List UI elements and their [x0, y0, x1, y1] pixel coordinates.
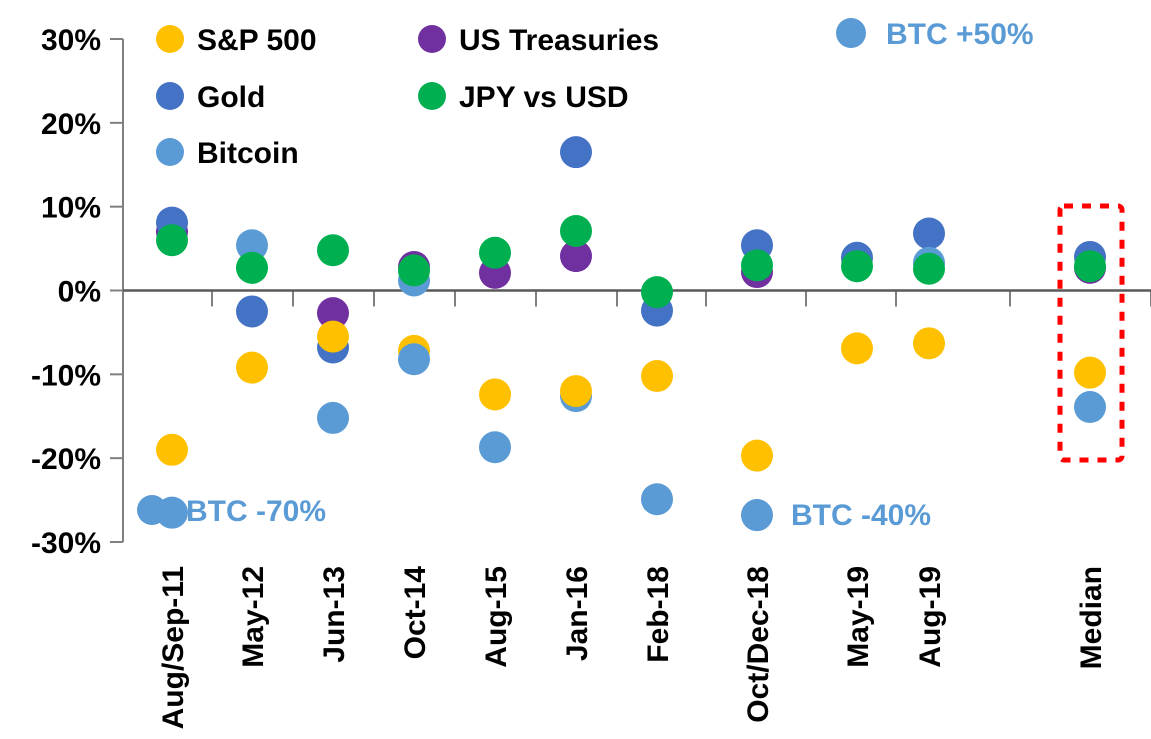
- data-point-s-p-500: [741, 440, 773, 472]
- x-tick-labels: Aug/Sep-11May-12Jun-13Oct-14Aug-15Jan-16…: [157, 566, 1108, 730]
- x-tick-label-may-12: May-12: [237, 566, 270, 668]
- legend-label-us-treasuries: US Treasuries: [459, 24, 659, 57]
- legend-marker-bitcoin: [156, 138, 184, 166]
- data-point-gold: [560, 136, 592, 168]
- plot-area: 30%20%10%0%-10%-20%-30% S&P 500GoldBitco…: [0, 0, 1151, 739]
- y-tick-label: 30%: [41, 24, 101, 57]
- data-point-s-p-500: [641, 360, 673, 392]
- data-point-jpy-vs-usd: [741, 249, 773, 281]
- annotation-btc-minus-40-marker: [742, 499, 772, 529]
- data-point-jpy-vs-usd: [236, 252, 268, 284]
- legend-marker-s-p-500: [156, 25, 184, 53]
- legend-label-s-p-500: S&P 500: [197, 24, 317, 57]
- data-point-jpy-vs-usd: [1074, 250, 1106, 282]
- x-tick-label-median: Median: [1075, 566, 1108, 669]
- data-point-bitcoin: [317, 402, 349, 434]
- x-axis: [212, 291, 1151, 307]
- data-point-bitcoin: [398, 343, 430, 375]
- legend-label-gold: Gold: [197, 81, 265, 114]
- data-point-jpy-vs-usd: [156, 224, 188, 256]
- x-tick-label-oct-dec-18: Oct/Dec-18: [742, 566, 775, 723]
- data-point-jpy-vs-usd: [317, 234, 349, 266]
- scatter-chart: 30%20%10%0%-10%-20%-30% S&P 500GoldBitco…: [0, 0, 1151, 739]
- y-tick-label: 10%: [41, 192, 101, 225]
- annotation-btc-minus-40-label: BTC -40%: [791, 499, 931, 532]
- annotation-btc-minus-70-label: BTC -70%: [186, 495, 326, 528]
- legend-label-jpy-vs-usd: JPY vs USD: [459, 81, 629, 114]
- legend-marker-us-treasuries: [418, 25, 446, 53]
- y-tick-label: 20%: [41, 108, 101, 141]
- data-points: [156, 136, 1106, 531]
- x-tick-label-jun-13: Jun-13: [318, 566, 351, 663]
- annotation-btc-minus-70-marker: [137, 495, 167, 525]
- data-point-jpy-vs-usd: [398, 254, 430, 286]
- data-point-s-p-500: [560, 375, 592, 407]
- data-point-s-p-500: [156, 434, 188, 466]
- data-point-s-p-500: [236, 352, 268, 384]
- legend-marker-jpy-vs-usd: [418, 82, 446, 110]
- data-point-jpy-vs-usd: [479, 237, 511, 269]
- annotation-btc-plus-50-marker: [836, 18, 866, 48]
- annotation-btc-plus-50-label: BTC +50%: [886, 18, 1034, 51]
- y-axis: 30%20%10%0%-10%-20%-30%: [31, 24, 123, 560]
- data-point-jpy-vs-usd: [841, 250, 873, 282]
- data-point-s-p-500: [913, 327, 945, 359]
- data-point-bitcoin: [641, 483, 673, 515]
- data-point-s-p-500: [317, 321, 349, 353]
- data-point-jpy-vs-usd: [641, 276, 673, 308]
- y-tick-label: -10%: [31, 359, 101, 392]
- x-tick-label-aug-sep-11: Aug/Sep-11: [157, 566, 190, 729]
- x-tick-label-feb-18: Feb-18: [642, 566, 675, 663]
- data-point-gold: [913, 217, 945, 249]
- x-tick-label-may-19: May-19: [842, 566, 875, 668]
- legend-marker-gold: [156, 82, 184, 110]
- x-tick-label-aug-19: Aug-19: [914, 566, 947, 668]
- data-point-bitcoin: [1074, 391, 1106, 423]
- data-point-s-p-500: [479, 378, 511, 410]
- x-tick-label-jan-16: Jan-16: [561, 566, 594, 661]
- x-tick-label-aug-15: Aug-15: [480, 566, 513, 668]
- y-tick-label: 0%: [58, 276, 101, 309]
- data-point-s-p-500: [1074, 357, 1106, 389]
- legend-label-bitcoin: Bitcoin: [197, 137, 299, 170]
- data-point-gold: [236, 295, 268, 327]
- y-tick-label: -30%: [31, 527, 101, 560]
- data-point-s-p-500: [841, 332, 873, 364]
- data-point-jpy-vs-usd: [913, 253, 945, 285]
- y-tick-label: -20%: [31, 443, 101, 476]
- data-point-bitcoin: [479, 431, 511, 463]
- data-point-jpy-vs-usd: [560, 215, 592, 247]
- x-tick-label-oct-14: Oct-14: [399, 566, 432, 660]
